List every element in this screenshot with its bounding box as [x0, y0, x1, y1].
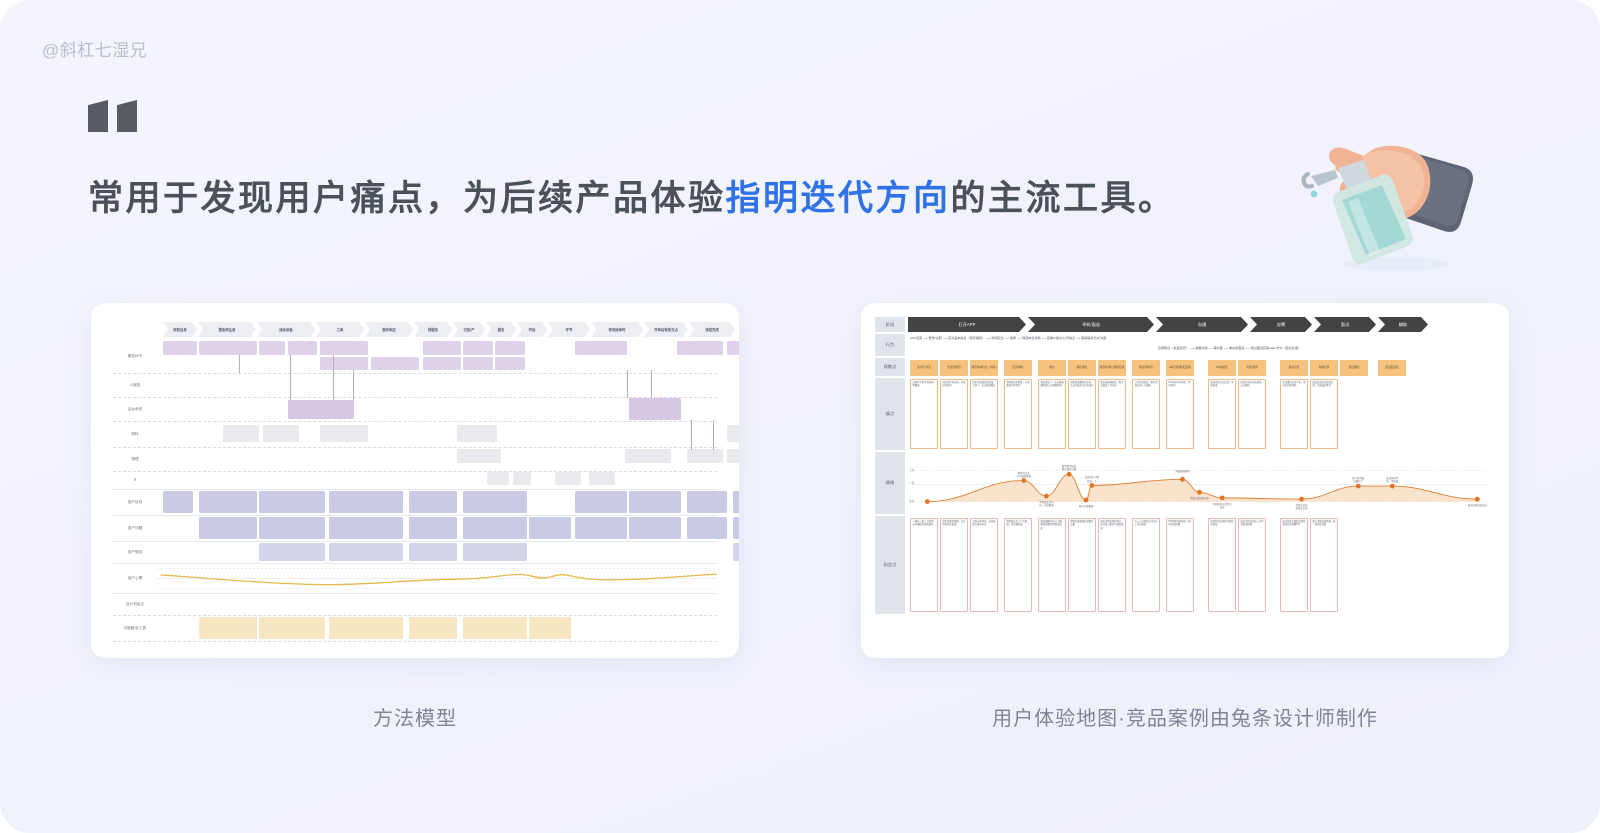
blueprint-row-label: 用户问题 — [113, 515, 157, 541]
journey-touchpoint-card: 面试邀约 — [1340, 360, 1368, 376]
blueprint-column-header: 服务响应 — [365, 322, 413, 337]
blueprint-user-goal-card — [163, 491, 193, 513]
blueprint-user-idea-card — [733, 543, 739, 561]
journey-opportunity-card: 投递状态全流程可视化时间轴 — [1208, 518, 1236, 612]
connector — [713, 420, 714, 450]
headline-after: 的主流工具。 — [951, 179, 1176, 218]
blueprint-service-card — [463, 341, 493, 355]
emotion-point-label: 推荐岗位多可以随便看看 — [1008, 472, 1040, 478]
blueprint-opportunity-card — [259, 617, 325, 639]
blueprint-opportunity-card — [463, 617, 527, 639]
connector — [627, 370, 628, 398]
journey-opportunity-card: 完善标签体系，支持技能关键词标注 — [970, 518, 998, 612]
cards-row: 服务APP人服务后台系统物料物理Я用户目标用户问题用户想法用户心情设计机会点可能… — [0, 303, 1600, 731]
journey-touchpoint-card: 筛选条件栏/搜索结果 — [1098, 360, 1126, 376]
journey-touchpoint-card: 沟通记录 — [1310, 360, 1338, 376]
blueprint-row-label: 用户心情 — [113, 563, 157, 593]
journey-behavior-flow-line: APP应用 ⟶ 登录/注册 ⟶ 完善基本信息（简历编辑） ⟶ 浏览职位 ⟶ 搜索… — [910, 336, 1106, 340]
journey-stage: 寻机/面谈 — [1028, 317, 1154, 332]
journey-row-label: 行为 — [875, 334, 905, 356]
row-separator — [113, 541, 717, 542]
blueprint-user-problem-card — [329, 517, 403, 539]
journey-touchpoint-card: HR页面/聊天页面/ — [1166, 360, 1194, 376]
blueprint-user-goal-card — [199, 491, 257, 513]
blueprint-material-card — [320, 425, 368, 442]
blueprint-user-problem-card — [463, 517, 527, 539]
blueprint-column-header: 工单 — [316, 322, 364, 337]
emotion-point-label: 面试结果迟迟未出 — [1461, 504, 1493, 507]
blueprint-backstage-card — [288, 400, 354, 419]
emotion-point-label: 简历又要重填 — [1070, 505, 1102, 508]
blueprint-service-card — [495, 341, 525, 355]
emotion-point-label: 面试体验不错，等结果 — [1376, 477, 1408, 483]
blueprint-column-header: 接收准备 — [257, 322, 315, 337]
method-model-figure: 服务APP人服务后台系统物料物理Я用户目标用户问题用户想法用户心情设计机会点可能… — [91, 303, 739, 658]
blueprint-opportunity-card — [409, 617, 457, 639]
journey-touchpoint-card: 简历基本信息（姓名/ — [970, 360, 998, 376]
blueprint-user-problem-card — [199, 517, 257, 539]
journey-pain-point-card: 发送简历后无反馈，不知进度 — [1208, 379, 1236, 449]
watermark: @斜杠七湿兄 — [42, 36, 147, 61]
journey-opportunity-card: 职位详情结构化展示，标注核心职责与硬性要求 — [1098, 518, 1126, 612]
journey-opportunity-card: 引入公司真实点评与员工评价模块 — [1132, 518, 1160, 612]
emotion-point-label: 还是想先了解投递一下 — [1076, 476, 1108, 482]
journey-touchpoint-card: 职位 — [1038, 360, 1066, 376]
card-caption-left: 方法模型 — [91, 702, 739, 731]
card-caption-right: 用户体验地图·竞品案例由兔条设计师制作 — [861, 702, 1509, 731]
blueprint-service-card — [320, 341, 368, 355]
journey-pain-point-card: 筛选维度少，无法按通勤距离/公司规模筛选 — [1038, 379, 1066, 449]
blueprint-physical-card — [589, 472, 615, 485]
blueprint-user-goal-card — [409, 491, 457, 513]
blueprint-physical-card — [555, 472, 581, 485]
card-ux-journey-map: 阶段行为接触点痛点情绪机会点打开APP寻机/面谈沟通应聘面试辅助APP应用 ⟶ … — [861, 303, 1509, 731]
blueprint-user-problem-card — [259, 517, 325, 539]
blueprint-physical-card — [625, 449, 671, 463]
emotion-point-label: 不想填太多信息，比较繁琐 — [1030, 501, 1062, 507]
headline-highlight: 指明迭代方向 — [726, 179, 951, 218]
emotion-axis-label: 负向 — [909, 499, 914, 503]
journey-pain-point-card: 搜索结果重复岗位多，无法快速定位目标岗位 — [1068, 379, 1096, 449]
row-separator — [113, 471, 717, 472]
blueprint-physical-card — [487, 472, 509, 485]
blueprint-row-label: 设计机会点 — [113, 593, 157, 615]
blueprint-column-header: 等待接单时 — [591, 322, 643, 337]
blueprint-user-goal-card — [733, 491, 739, 513]
journey-touchpoint-card: 登录注册页 — [940, 360, 968, 376]
blueprint-column-header: 服务 — [486, 322, 516, 337]
journey-stage: 沟通 — [1156, 317, 1248, 332]
blueprint-column-header: 预服务 — [414, 322, 452, 337]
blueprint-row-label: 人服务 — [113, 373, 157, 397]
blueprint-row-label: Я — [113, 471, 157, 489]
quote-mark-icon — [88, 100, 137, 132]
journey-row-label: 阶段 — [875, 317, 905, 332]
blueprint-user-idea-card — [409, 543, 457, 561]
journey-opportunity-card: 增加通勤时长/公司规模/融资阶段等筛选维度 — [1038, 518, 1066, 612]
blueprint-user-idea-card — [329, 543, 403, 561]
blueprint-service-card — [677, 341, 723, 355]
connector — [651, 370, 652, 398]
journey-row-label: 机会点 — [875, 516, 905, 614]
blueprint-service-card — [727, 341, 739, 355]
card-method-model: 服务APP人服务后台系统物料物理Я用户目标用户问题用户想法用户心情设计机会点可能… — [91, 303, 739, 731]
journey-touchpoint-card: 职位详情页 — [1132, 360, 1160, 376]
blueprint-service-card — [288, 341, 317, 355]
journey-touchpoint-card: 职位搜索 — [1068, 360, 1096, 376]
blueprint-service-card — [199, 341, 257, 355]
connector — [239, 355, 240, 373]
blueprint-service-card — [371, 357, 419, 370]
blueprint-column-header: 开单后现场交点 — [644, 322, 688, 337]
journey-opportunity-card: 搜索结果按相似度聚合去重 — [1068, 518, 1096, 612]
blueprint-emotion-curve — [157, 563, 717, 593]
journey-touchpoint-card: 对话/简历 — [1238, 360, 1266, 376]
blueprint-user-idea-card — [259, 543, 325, 561]
journey-opportunity-card: 面试结束后强制反馈机制或自动提醒HR — [1280, 518, 1308, 612]
row-separator — [113, 447, 717, 448]
blueprint-user-problem-card — [733, 517, 739, 539]
emotion-point-label: 不知道状态是否已读过 — [1206, 503, 1238, 509]
page-title: 常用于发现用户痛点，为后续产品体验指明迭代方向的主流工具。 — [88, 170, 1176, 221]
connector — [353, 370, 354, 400]
emotion-point-label: 沟通进展顺利 — [1166, 470, 1198, 473]
journey-pain-point-card: 注册时手机号/验证码等繁琐 — [910, 379, 938, 449]
blueprint-material-card — [457, 425, 497, 442]
journey-behavior-flow-line: 应聘职位（投递简历） ⟶ 进展沟通 ⟶ 等约面 ⟶ 看在职面试 ⟶ 通过面试获取… — [1158, 346, 1301, 350]
blueprint-row-label: 后台系统 — [113, 397, 157, 421]
blueprint-service-card — [423, 341, 461, 355]
blueprint-material-card — [727, 425, 739, 442]
journey-pain-point-card: 职位描述模板化，看不出真实工作内容 — [1098, 379, 1126, 449]
journey-opportunity-card: 简历多版本管理，针对不同岗位投递 — [940, 518, 968, 612]
row-separator — [113, 515, 717, 516]
row-separator — [113, 421, 717, 422]
journey-row-label: 情绪 — [875, 452, 905, 514]
journey-pain-point-card: HR长时间不回复，等待焦虑 — [1166, 379, 1194, 449]
blueprint-user-problem-card — [629, 517, 681, 539]
journey-opportunity-card: 推荐算法引入行为数据，提升精准度 — [1004, 518, 1032, 612]
blueprint-service-card — [320, 357, 368, 370]
blueprint-backstage-card — [629, 398, 681, 420]
journey-row-label: 接触点 — [875, 358, 905, 376]
blueprint-physical-card — [727, 449, 739, 463]
blueprint-row-label: 可能解法/工具 — [113, 615, 157, 641]
blueprint-user-problem-card — [409, 517, 457, 539]
headline-before: 常用于发现用户痛点，为后续产品体验 — [88, 179, 726, 218]
journey-pain-point-card: 简历填写项过多，不知如何填写 — [940, 379, 968, 449]
journey-pain-point-card: 简历信息要反复修改，字段少，无法描述重点 — [970, 379, 998, 449]
emotion-axis-label: 一般 — [909, 481, 914, 485]
blueprint-physical-card — [513, 472, 531, 485]
journey-pain-point-card: 投递记录无状态更新，无法跟踪 — [1238, 379, 1266, 449]
connector — [691, 420, 692, 450]
blueprint-service-card — [495, 357, 525, 370]
blueprint-physical-card — [687, 449, 723, 463]
row-separator — [113, 641, 717, 642]
blueprint-service-card — [259, 341, 285, 355]
emotion-point-label: 终于收到面试邀约了 — [1342, 477, 1374, 483]
journey-pain-point-card: 推荐职位不精准，与求职意向不符合 — [1004, 379, 1032, 449]
blueprint-row-label: 物料 — [113, 421, 157, 447]
blueprint-body: 获取信息整备和注册接收准备工单服务响应预服务付加/产服务开始环节等待接单时开单后… — [157, 322, 717, 644]
blueprint-service-card — [575, 341, 627, 355]
blueprint-row-label: 服务APP — [113, 339, 157, 373]
blueprint-header: 获取信息整备和注册接收准备工单服务响应预服务付加/产服务开始环节等待接单时开单后… — [157, 322, 717, 337]
row-separator — [113, 615, 717, 616]
journey-stage: 面试 — [1314, 317, 1376, 332]
emotion-point-label: 看到薪资较高职位很有兴趣 — [1053, 465, 1085, 471]
journey-touchpoint-card: 新手引导页 — [910, 360, 938, 376]
blueprint-user-goal-card — [629, 491, 681, 513]
blueprint-user-goal-card — [259, 491, 325, 513]
row-separator — [113, 593, 717, 594]
connector — [290, 355, 291, 400]
journey-opportunity-card: 一键导入第三方简历/支持模板化快速填写 — [910, 518, 938, 612]
blueprint-user-goal-card — [687, 491, 727, 513]
blueprint-service-card — [163, 341, 197, 355]
blueprint-user-goal-card — [463, 491, 527, 513]
page-root: @斜杠七湿兄 常用于发现用户痛点，为后续产品体验指明迭代方向的主流工具。 — [0, 0, 1600, 833]
row-separator — [113, 489, 717, 490]
blueprint-service-card — [463, 357, 493, 370]
journey-opportunity-card: HR回复时效标签 + 超时自动提醒 — [1166, 518, 1194, 612]
blueprint-user-problem-card — [575, 517, 627, 539]
journey-pain-point-card: 面试邀约信息不全，地点时间易遗漏 — [1280, 379, 1308, 449]
blueprint-opportunity-card — [529, 617, 571, 639]
blueprint-user-idea-card — [463, 543, 527, 561]
blueprint-column-header: 获取信息 — [163, 322, 197, 337]
journey-stage: 打开APP — [908, 317, 1026, 332]
blueprint-row-label: 用户目标 — [113, 489, 157, 515]
emotion-point-label: 持续无状态结果无反馈 — [1286, 504, 1318, 510]
connector — [333, 355, 334, 400]
blueprint-row-label: 物理 — [113, 447, 157, 471]
blueprint-user-problem-card — [687, 517, 727, 539]
emotion-axis-label: 正向 — [909, 468, 914, 472]
journey-touchpoint-card: 投递记录 — [1280, 360, 1308, 376]
journey-opportunity-card: 面试日程自动加入日历并提前提醒 — [1238, 518, 1266, 612]
blueprint-user-problem-card — [529, 517, 571, 539]
journey-stage: 应聘 — [1250, 317, 1312, 332]
blueprint-service-card — [423, 357, 461, 370]
journey-body: 打开APP寻机/面谈沟通应聘面试辅助APP应用 ⟶ 登录/注册 ⟶ 完善基本信息… — [908, 317, 1491, 646]
blueprint-material-card — [223, 425, 259, 442]
journey-stage: 辅助 — [1378, 317, 1428, 332]
blueprint-row-label: 用户想法 — [113, 541, 157, 563]
hand-spray-bottle-icon — [1278, 112, 1483, 277]
journey-row-label: 痛点 — [875, 378, 905, 450]
blueprint-user-goal-card — [329, 491, 403, 513]
blueprint-column-header: 付加/产 — [453, 322, 485, 337]
blueprint-material-card — [263, 425, 299, 442]
journey-pain-point-card: 公司信息缺失，看不到真实评价与规模 — [1132, 379, 1160, 449]
ux-journey-map-figure: 阶段行为接触点痛点情绪机会点打开APP寻机/面谈沟通应聘面试辅助APP应用 ⟶ … — [861, 303, 1509, 658]
blueprint-column-header: 整备和注册 — [198, 322, 256, 337]
blueprint-opportunity-card — [199, 617, 257, 639]
journey-opportunity-card: 建立求职进度看板，统一管理全流程 — [1310, 518, 1338, 612]
journey-touchpoint-card: IM沟通页 — [1208, 360, 1236, 376]
emotion-point-label: 等很久都没有回复 — [1184, 497, 1216, 500]
journey-touchpoint-card: 面试反馈页 — [1378, 360, 1406, 376]
blueprint-column-header: 开始 — [517, 322, 547, 337]
journey-pain-point-card: 面试结束后无结果反馈，只能被动等待 — [1310, 379, 1338, 449]
blueprint-opportunity-card — [329, 617, 403, 639]
blueprint-physical-card — [457, 449, 501, 463]
blueprint-column-header: 环节 — [548, 322, 590, 337]
journey-touchpoint-card: 首页/推荐 — [1004, 360, 1032, 376]
blueprint-user-goal-card — [575, 491, 627, 513]
blueprint-column-header: 流程完成 — [689, 322, 735, 337]
